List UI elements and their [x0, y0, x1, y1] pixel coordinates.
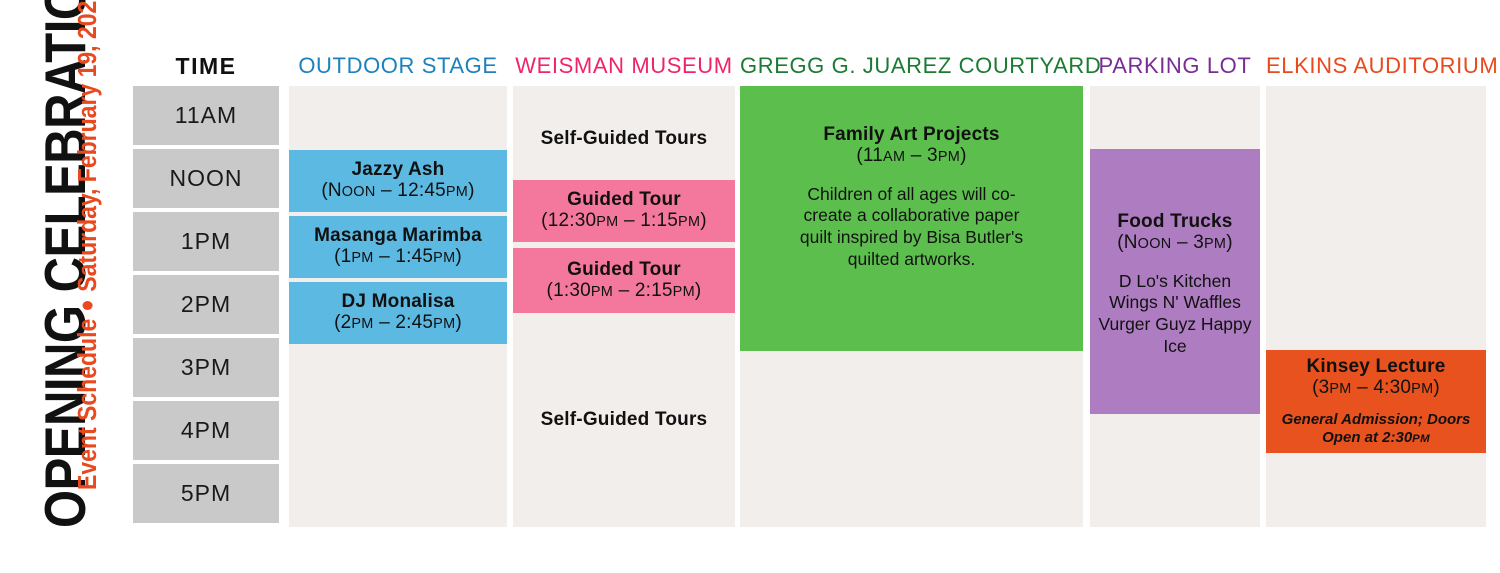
event-title: Family Art Projects [823, 124, 999, 145]
event-time-close: ) [695, 280, 702, 301]
column-header-parking-lot: PARKING LOT [1090, 52, 1260, 80]
subtitle-date-text: Saturday, February 19, 2022 [72, 0, 101, 292]
label-self-guided-tours-morning: Self-Guided Tours [513, 128, 735, 150]
time-slot-cell: 4PM [133, 401, 279, 460]
column-header-juarez-courtyard: GREGG G. JUAREZ COURTYARD [740, 52, 1083, 80]
event-time-open: (N [1117, 232, 1137, 253]
event-description: Children of all ages will co-create a co… [794, 184, 1030, 271]
column-header-time: TIME [133, 52, 279, 80]
event-time-middle: – 2:15 [613, 280, 673, 301]
column-track-elkins-auditorium [1266, 86, 1486, 527]
event-time-close: ) [960, 145, 967, 166]
column-header-elkins-auditorium: ELKINS AUDITORIUM [1266, 52, 1486, 80]
time-slot-cell: NOON [133, 149, 279, 208]
event-time-middle: – 12:45 [376, 180, 446, 201]
event-title: Guided Tour [567, 189, 681, 210]
event-block-guided-tour-2[interactable]: Guided Tour (1:30PM – 2:15PM) [513, 248, 735, 313]
event-title: Food Trucks [1117, 211, 1232, 232]
time-slot-cell: 11AM [133, 86, 279, 145]
event-block-jazzy-ash[interactable]: Jazzy Ash (NOON – 12:45PM) [289, 150, 507, 212]
event-time-open: (3 [1312, 377, 1329, 398]
event-block-food-trucks[interactable]: Food Trucks (NOON – 3PM) D Lo's Kitchen … [1090, 149, 1260, 414]
event-time-open: (2 [334, 312, 351, 333]
event-time-middle: – 3 [905, 145, 938, 166]
event-time: (NOON – 3PM) [1117, 232, 1233, 254]
event-time-close: ) [455, 246, 462, 267]
event-title: Guided Tour [567, 259, 681, 280]
event-note: General Admission; Doors Open at 2:30PM [1276, 411, 1476, 448]
event-time-meridiem-start: OON [342, 184, 376, 200]
event-time-meridiem-start: PM [591, 284, 613, 300]
event-time-open: (1 [334, 246, 351, 267]
event-time-close: ) [455, 312, 462, 333]
event-title: Kinsey Lecture [1306, 356, 1445, 377]
event-time-close: ) [1433, 377, 1440, 398]
column-header-outdoor-stage: OUTDOOR STAGE [289, 52, 507, 80]
event-time-meridiem-start: PM [351, 316, 373, 332]
event-block-dj-monalisa[interactable]: DJ Monalisa (2PM – 2:45PM) [289, 282, 507, 344]
event-time: (3PM – 4:30PM) [1312, 377, 1440, 399]
time-slot-label: 2PM [181, 291, 231, 318]
event-time: (12:30PM – 1:15PM) [541, 210, 707, 232]
event-time-meridiem-end: PM [446, 184, 468, 200]
event-block-masanga-marimba[interactable]: Masanga Marimba (1PM – 1:45PM) [289, 216, 507, 278]
time-slot-label: 1PM [181, 228, 231, 255]
event-schedule-poster: OPENING CELEBRATION Event ScheduleSaturd… [0, 0, 1500, 573]
event-time: (1:30PM – 2:15PM) [547, 280, 702, 302]
column-header-weisman-museum: WEISMAN MUSEUM [513, 52, 735, 80]
event-time-meridiem-start: AM [883, 149, 905, 165]
event-time-close: ) [1226, 232, 1233, 253]
event-time: (2PM – 2:45PM) [334, 312, 462, 334]
event-time-meridiem-end: PM [938, 149, 960, 165]
event-time-meridiem-end: PM [1204, 236, 1226, 252]
subtitle-left-text: Event Schedule [72, 319, 101, 490]
event-time-close: ) [700, 210, 707, 231]
event-time-close: ) [468, 180, 475, 201]
event-time-meridiem-end: PM [433, 250, 455, 266]
time-slot-label: 5PM [181, 480, 231, 507]
event-time-meridiem-start: PM [1329, 381, 1351, 397]
time-slot-label: 11AM [175, 102, 237, 129]
event-time: (1PM – 1:45PM) [334, 246, 462, 268]
event-title: Jazzy Ash [352, 159, 445, 180]
time-slot-cell: 2PM [133, 275, 279, 334]
event-time-open: (1:30 [547, 280, 591, 301]
event-time-meridiem-start: PM [596, 214, 618, 230]
poster-subtitle: Event ScheduleSaturday, February 19, 202… [68, 20, 106, 490]
event-time-meridiem-end: PM [1411, 381, 1433, 397]
event-vendor-list: D Lo's Kitchen Wings N' Waffles Vurger G… [1096, 271, 1254, 358]
event-note-text: General Admission; Doors Open at 2:30 [1282, 411, 1471, 446]
event-title: DJ Monalisa [341, 291, 454, 312]
event-time: (NOON – 12:45PM) [321, 180, 474, 202]
time-slot-label: 4PM [181, 417, 231, 444]
event-time-open: (11 [856, 145, 883, 166]
time-slot-label: 3PM [181, 354, 231, 381]
event-time-meridiem-start: OON [1138, 236, 1172, 252]
event-time-middle: – 1:15 [619, 210, 679, 231]
event-time-middle: – 3 [1171, 232, 1204, 253]
time-slot-label: NOON [170, 165, 243, 192]
event-block-kinsey-lecture[interactable]: Kinsey Lecture (3PM – 4:30PM) General Ad… [1266, 350, 1486, 453]
event-time-open: (N [321, 180, 341, 201]
event-time-meridiem-end: PM [673, 284, 695, 300]
event-time-middle: – 1:45 [374, 246, 434, 267]
event-time-middle: – 2:45 [374, 312, 434, 333]
event-time-meridiem-end: PM [433, 316, 455, 332]
time-slot-cell: 1PM [133, 212, 279, 271]
time-slot-cell: 5PM [133, 464, 279, 523]
event-note-meridiem: PM [1412, 433, 1430, 445]
event-block-guided-tour-1[interactable]: Guided Tour (12:30PM – 1:15PM) [513, 180, 735, 242]
event-time-open: (12:30 [541, 210, 596, 231]
bullet-dot-icon [82, 301, 92, 310]
label-self-guided-tours-afternoon: Self-Guided Tours [513, 409, 735, 431]
event-block-family-art-projects[interactable]: Family Art Projects (11AM – 3PM) Childre… [740, 86, 1083, 351]
event-time: (11AM – 3PM) [856, 145, 966, 167]
event-time-meridiem-start: PM [351, 250, 373, 266]
time-slot-cell: 3PM [133, 338, 279, 397]
event-title: Masanga Marimba [314, 225, 482, 246]
poster-title-block: OPENING CELEBRATION Event ScheduleSaturd… [0, 0, 130, 573]
event-time-meridiem-end: PM [678, 214, 700, 230]
event-time-middle: – 4:30 [1352, 377, 1412, 398]
